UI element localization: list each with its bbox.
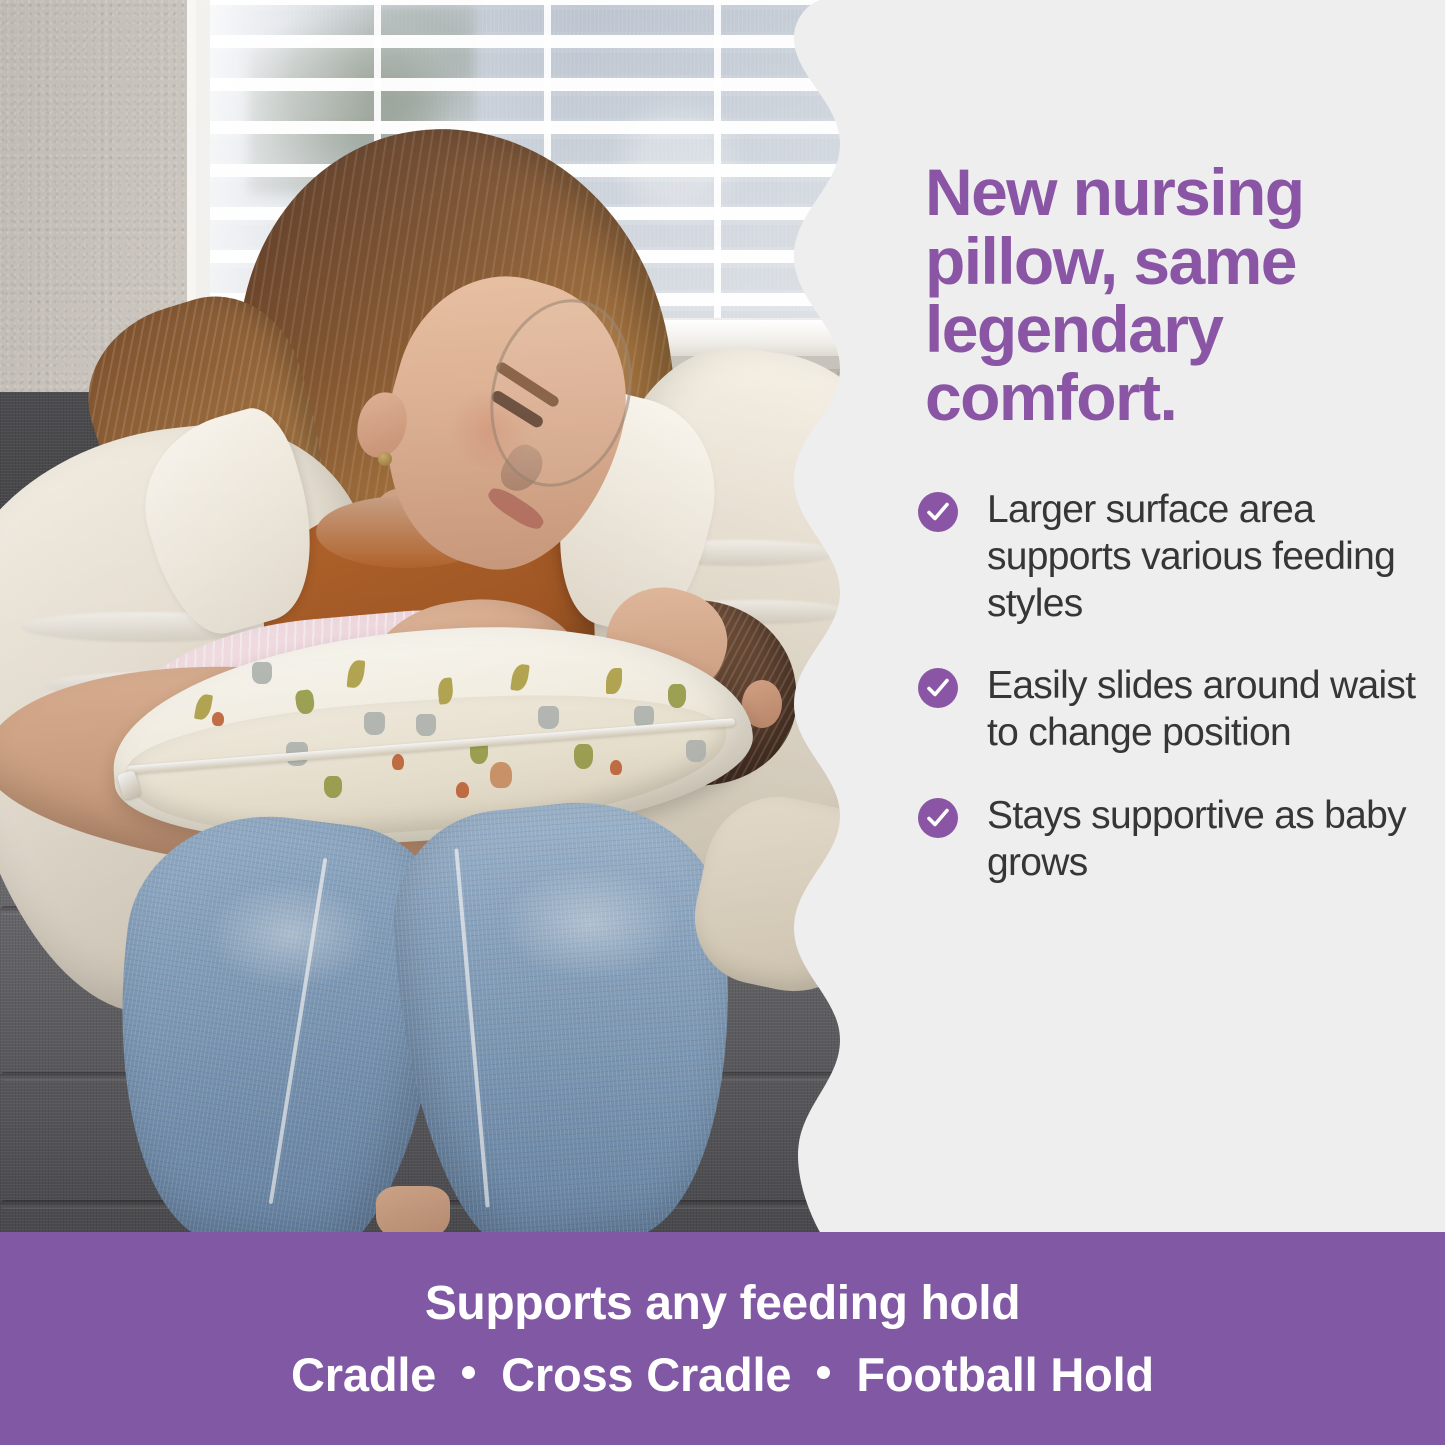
pillow-motif xyxy=(610,760,622,775)
headline-line: New nursing xyxy=(925,155,1303,229)
pillow-motif xyxy=(574,744,593,769)
feeding-hold-cradle: Cradle xyxy=(291,1347,436,1402)
list-item: Stays supportive as baby grows xyxy=(918,793,1418,887)
window-mullion xyxy=(714,0,721,318)
headline-line: pillow, same xyxy=(925,224,1296,298)
pillow-motif xyxy=(668,684,686,708)
photo-scene xyxy=(0,0,880,1232)
pillow-motif xyxy=(392,754,404,770)
headline-line: comfort. xyxy=(925,360,1176,434)
headline-line: legendary xyxy=(925,292,1222,366)
feeding-holds-row: Cradle Cross Cradle Football Hold xyxy=(291,1347,1154,1402)
list-item: Easily slides around waist to change pos… xyxy=(918,663,1418,757)
check-circle-icon xyxy=(918,798,958,838)
lifestyle-photo xyxy=(0,0,880,1232)
pillow-motif xyxy=(252,662,272,684)
feature-text: Larger surface area supports various fee… xyxy=(987,487,1418,627)
separator-dot-icon xyxy=(462,1366,475,1379)
feeding-holds-banner: Supports any feeding hold Cradle Cross C… xyxy=(0,1232,1445,1445)
feature-list: Larger surface area supports various fee… xyxy=(918,487,1418,923)
product-marketing-image: New nursing pillow, same legendary comfo… xyxy=(0,0,1445,1445)
separator-dot-icon xyxy=(817,1366,830,1379)
earring xyxy=(378,452,392,466)
feeding-hold-cross-cradle: Cross Cradle xyxy=(501,1347,791,1402)
ankle xyxy=(376,1186,450,1232)
pillow-motif xyxy=(212,712,224,726)
knee-highlight xyxy=(500,866,680,981)
pillow-motif xyxy=(490,762,512,788)
check-circle-icon xyxy=(918,492,958,532)
pillow-motif xyxy=(416,714,436,736)
pillow-motif xyxy=(686,740,706,762)
page-title: New nursing pillow, same legendary comfo… xyxy=(925,158,1395,431)
content-panel: New nursing pillow, same legendary comfo… xyxy=(880,0,1445,1232)
check-circle-icon xyxy=(918,668,958,708)
banner-title: Supports any feeding hold xyxy=(425,1276,1020,1331)
feature-text: Easily slides around waist to change pos… xyxy=(987,663,1418,757)
feature-text: Stays supportive as baby grows xyxy=(987,793,1418,887)
feeding-hold-football: Football Hold xyxy=(856,1347,1154,1402)
knee-highlight xyxy=(206,880,376,990)
pillow-motif xyxy=(364,712,385,735)
list-item: Larger surface area supports various fee… xyxy=(918,487,1418,627)
pillow-motif xyxy=(538,706,559,729)
pillow-motif xyxy=(456,782,469,798)
pillow-motif xyxy=(324,776,342,798)
